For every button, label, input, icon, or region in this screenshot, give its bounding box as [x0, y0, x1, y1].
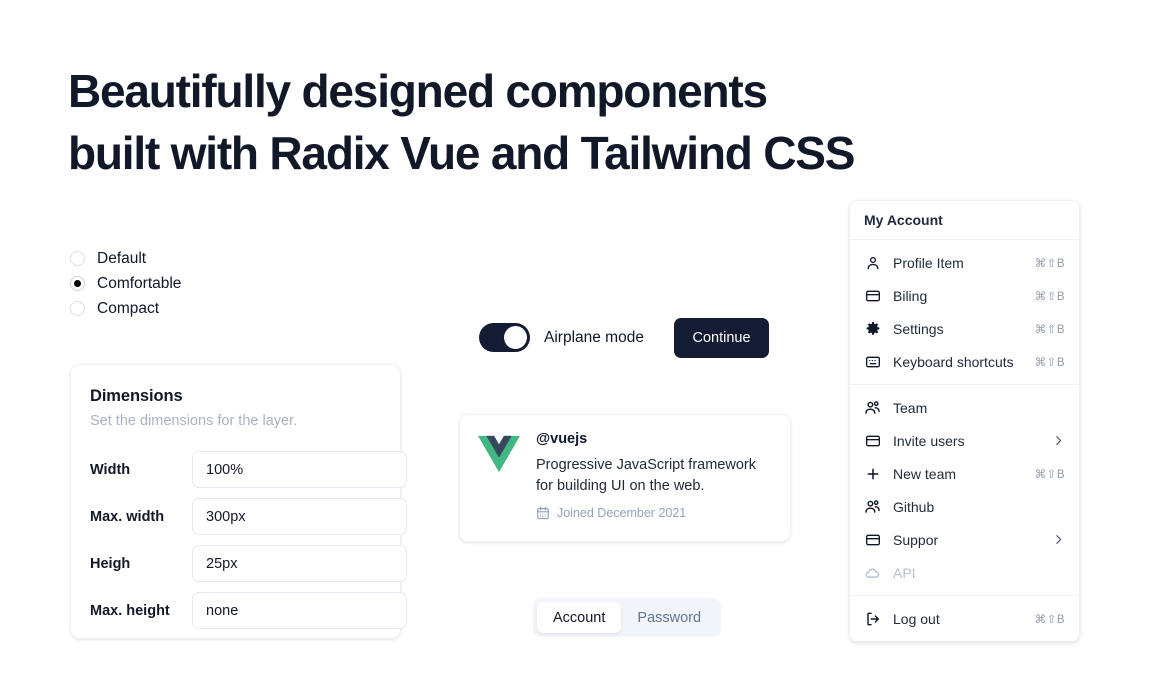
max-width-input[interactable]: [192, 498, 407, 535]
width-input[interactable]: [192, 451, 407, 488]
menu-item-team[interactable]: Team: [850, 391, 1079, 424]
credit-card-icon: [864, 531, 881, 548]
my-account-dropdown-menu: My Account Profile Item ⌘⇧B Biling: [849, 200, 1080, 642]
menu-label-github: Github: [893, 499, 1065, 515]
menu-item-log-out[interactable]: Log out ⌘⇧B: [850, 602, 1079, 635]
menu-shortcut-new-team: ⌘⇧B: [1035, 467, 1065, 481]
users-icon: [864, 498, 881, 515]
vuejs-hover-card: @vuejs Progressive JavaScript framework …: [459, 414, 791, 542]
plus-icon: [864, 465, 881, 482]
menu-label-team: Team: [893, 400, 1065, 416]
joined-row: Joined December 2021: [536, 506, 772, 520]
page-title-line-2: built with Radix Vue and Tailwind CSS: [68, 122, 1028, 184]
menu-group-session: Log out ⌘⇧B: [850, 596, 1079, 641]
radio-option-compact[interactable]: Compact: [70, 296, 310, 321]
menu-label-settings: Settings: [893, 321, 1035, 337]
radio-label-default: Default: [97, 250, 146, 268]
radio-option-default[interactable]: Default: [70, 246, 310, 271]
dimensions-fields: Width Max. width Heigh Max. height: [90, 446, 381, 634]
radio-label-comfortable: Comfortable: [97, 275, 181, 293]
settings-tabs: Account Password: [533, 598, 721, 637]
menu-item-support[interactable]: Suppor: [850, 523, 1079, 556]
calendar-icon: [536, 506, 550, 520]
page-title: Beautifully designed components built wi…: [68, 60, 1028, 184]
continue-button[interactable]: Continue: [674, 318, 769, 358]
menu-item-settings[interactable]: Settings ⌘⇧B: [850, 312, 1079, 345]
menu-header: My Account: [850, 201, 1079, 239]
menu-label-support: Suppor: [893, 532, 1052, 548]
menu-label-keyboard-shortcuts: Keyboard shortcuts: [893, 354, 1035, 370]
menu-shortcut-profile: ⌘⇧B: [1035, 256, 1065, 270]
keyboard-icon: [864, 353, 881, 370]
page-title-line-1: Beautifully designed components: [68, 60, 1028, 122]
airplane-mode-label: Airplane mode: [544, 329, 644, 347]
field-label-max-width: Max. width: [90, 509, 192, 525]
vuejs-description: Progressive JavaScript framework for bui…: [536, 455, 772, 497]
chevron-right-icon: [1052, 533, 1065, 546]
dimensions-subtitle: Set the dimensions for the layer.: [90, 413, 381, 429]
tab-account[interactable]: Account: [537, 602, 621, 633]
gear-icon: [864, 320, 881, 337]
hover-card-body: @vuejs Progressive JavaScript framework …: [536, 431, 772, 525]
menu-item-invite-users[interactable]: Invite users: [850, 424, 1079, 457]
radio-indicator-default[interactable]: [70, 251, 85, 266]
credit-card-icon: [864, 287, 881, 304]
users-icon: [864, 399, 881, 416]
switch-knob: [504, 326, 527, 349]
menu-item-profile[interactable]: Profile Item ⌘⇧B: [850, 246, 1079, 279]
dimensions-card: Dimensions Set the dimensions for the la…: [70, 364, 401, 639]
menu-label-new-team: New team: [893, 466, 1035, 482]
max-height-input[interactable]: [192, 592, 407, 629]
field-row-height: Heigh: [90, 540, 381, 587]
logout-icon: [864, 610, 881, 627]
radio-label-compact: Compact: [97, 300, 159, 318]
menu-item-github[interactable]: Github: [850, 490, 1079, 523]
dimensions-title: Dimensions: [90, 387, 381, 406]
menu-item-billing[interactable]: Biling ⌘⇧B: [850, 279, 1079, 312]
menu-shortcut-billing: ⌘⇧B: [1035, 289, 1065, 303]
radio-indicator-compact[interactable]: [70, 301, 85, 316]
field-label-width: Width: [90, 462, 192, 478]
field-label-height: Heigh: [90, 556, 192, 572]
field-row-max-width: Max. width: [90, 493, 381, 540]
airplane-mode-switch[interactable]: [479, 323, 530, 352]
density-radio-group: Default Comfortable Compact: [70, 246, 310, 321]
vuejs-handle: @vuejs: [536, 431, 772, 447]
airplane-mode-row: Airplane mode: [479, 323, 644, 352]
menu-label-profile: Profile Item: [893, 255, 1035, 271]
page-root: Beautifully designed components built wi…: [0, 0, 1152, 700]
menu-group-account: Profile Item ⌘⇧B Biling ⌘⇧B: [850, 240, 1079, 384]
chevron-right-icon: [1052, 434, 1065, 447]
user-icon: [864, 254, 881, 271]
menu-item-new-team[interactable]: New team ⌘⇧B: [850, 457, 1079, 490]
menu-shortcut-keyboard-shortcuts: ⌘⇧B: [1035, 355, 1065, 369]
joined-text: Joined December 2021: [557, 506, 686, 520]
field-row-width: Width: [90, 446, 381, 493]
menu-label-billing: Biling: [893, 288, 1035, 304]
radio-indicator-comfortable[interactable]: [70, 276, 85, 291]
menu-group-team: Team Invite users New team ⌘⇧B: [850, 385, 1079, 595]
menu-item-api: API: [850, 556, 1079, 589]
menu-label-invite-users: Invite users: [893, 433, 1052, 449]
credit-card-icon: [864, 432, 881, 449]
menu-label-api: API: [893, 565, 1065, 581]
vue-logo-icon: [478, 434, 520, 474]
cloud-icon: [864, 564, 881, 581]
menu-shortcut-settings: ⌘⇧B: [1035, 322, 1065, 336]
menu-item-keyboard-shortcuts[interactable]: Keyboard shortcuts ⌘⇧B: [850, 345, 1079, 378]
height-input[interactable]: [192, 545, 407, 582]
field-row-max-height: Max. height: [90, 587, 381, 634]
field-label-max-height: Max. height: [90, 603, 192, 619]
tab-password[interactable]: Password: [621, 602, 717, 633]
menu-label-log-out: Log out: [893, 611, 1035, 627]
menu-shortcut-log-out: ⌘⇧B: [1035, 612, 1065, 626]
radio-option-comfortable[interactable]: Comfortable: [70, 271, 310, 296]
